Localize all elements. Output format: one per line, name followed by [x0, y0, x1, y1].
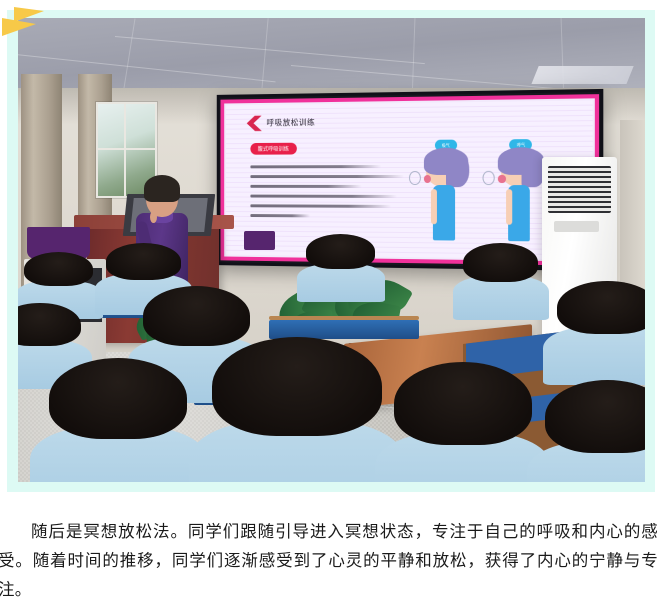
lecture-hall-photo: 呼吸放松训练 腹式呼吸训练	[18, 18, 645, 482]
student	[49, 358, 187, 482]
slide-badge: 腹式呼吸训练	[250, 143, 296, 155]
ceiling-light	[531, 66, 633, 84]
caption-paragraph: 随后是冥想放松法。同学们跟随引导进入冥想状态，专注于自己的呼吸和内心的感受。随着…	[0, 517, 658, 604]
student	[212, 337, 381, 482]
student	[557, 281, 645, 379]
article-body: 呼吸放松训练 腹式呼吸训练	[0, 0, 660, 553]
student	[545, 380, 645, 482]
student	[463, 243, 538, 316]
purple-banner-right	[244, 231, 275, 250]
slide-header: 呼吸放松训练	[247, 115, 315, 131]
double-arrow-ornament-icon	[0, 2, 48, 42]
student	[306, 234, 375, 298]
slide-body-text	[250, 165, 410, 225]
slide-figure-inhale: 吸气	[418, 140, 480, 243]
slide-title: 呼吸放松训练	[267, 118, 316, 129]
audience	[18, 269, 645, 482]
photo-frame: 呼吸放松训练 腹式呼吸训练	[18, 18, 645, 482]
photo-figure: 呼吸放松训练 腹式呼吸训练	[7, 10, 655, 492]
student	[394, 362, 532, 482]
chevron-left-icon	[247, 116, 262, 132]
